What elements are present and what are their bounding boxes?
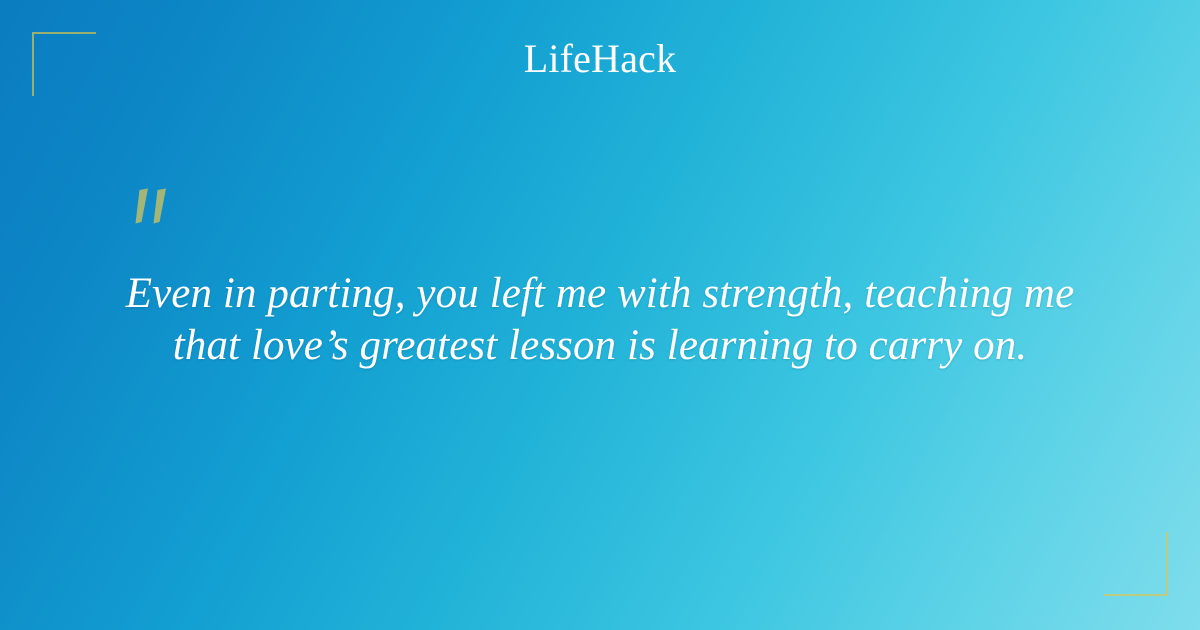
brand-logo: LifeHack (0, 36, 1200, 82)
corner-bracket-bottom-right-icon (1104, 532, 1168, 596)
quotation-mark-icon (126, 186, 180, 246)
quote-text: Even in parting, you left me with streng… (90, 268, 1110, 372)
quote-card: LifeHack Even in parting, you left me wi… (0, 0, 1200, 630)
